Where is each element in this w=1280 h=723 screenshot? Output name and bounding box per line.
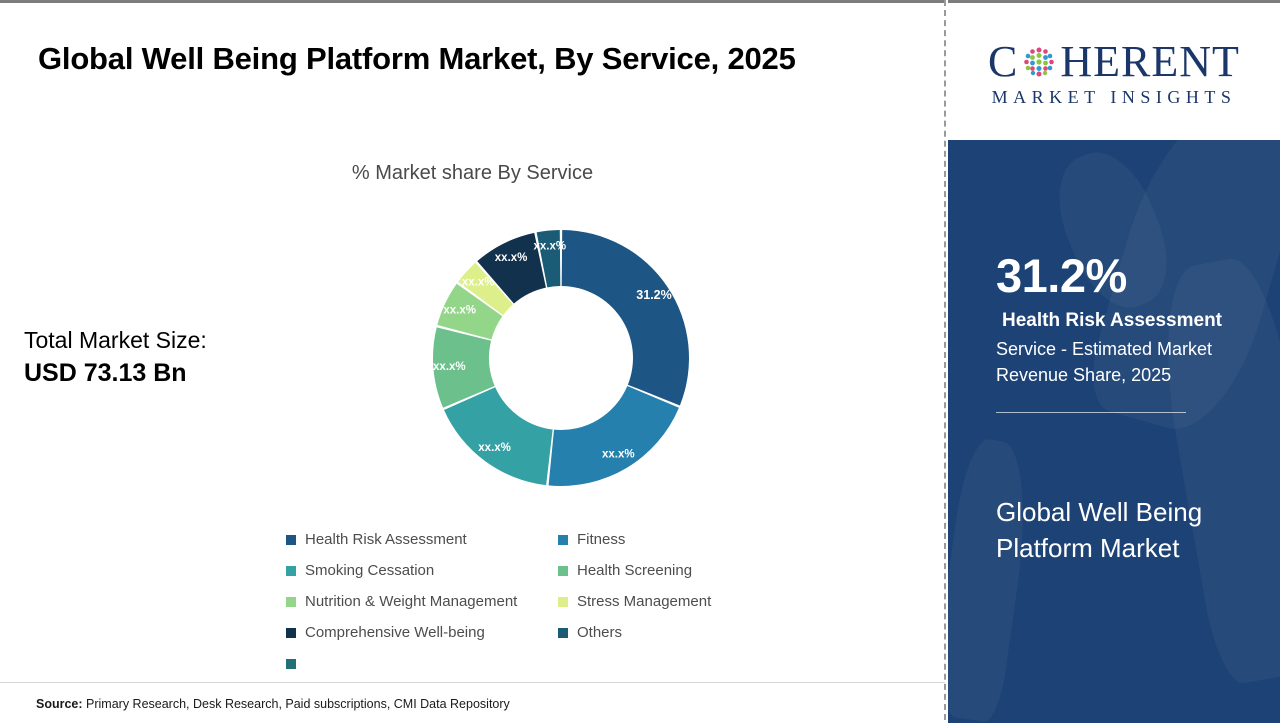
donut-slice-label: xx.x% [602, 448, 635, 460]
donut-slice-label: xx.x% [462, 277, 495, 289]
legend-item[interactable]: Stress Management [558, 590, 806, 613]
donut-slice-label: xx.x% [495, 252, 528, 264]
legend-label: Comprehensive Well-being [305, 624, 485, 641]
kpi-rule [996, 412, 1186, 413]
logo-letter-c: C [988, 40, 1018, 84]
donut-slice[interactable] [562, 230, 689, 405]
market-name: Global Well Being Platform Market [996, 495, 1236, 567]
legend-label: Fitness [577, 531, 625, 548]
legend-item[interactable]: Health Screening [558, 559, 806, 582]
legend-item[interactable]: Others [558, 621, 806, 644]
legend-label: Stress Management [577, 593, 711, 610]
legend-swatch [558, 566, 568, 576]
legend-label: Smoking Cessation [305, 562, 434, 579]
legend-swatch [558, 597, 568, 607]
source-text: Primary Research, Desk Research, Paid su… [83, 697, 510, 711]
main-chart-panel: Global Well Being Platform Market, By Se… [0, 0, 945, 720]
legend-item[interactable]: Smoking Cessation [286, 559, 558, 582]
logo-wordmark: C [988, 40, 1240, 84]
legend-item[interactable]: Health Risk Assessment [286, 528, 558, 551]
legend-label: Health Risk Assessment [305, 531, 467, 548]
donut-slice-label: xx.x% [433, 361, 466, 373]
donut-slice[interactable] [444, 387, 553, 485]
source-label: Source: [36, 697, 83, 711]
total-market-size-block: Total Market Size: USD 73.13 Bn [24, 325, 324, 391]
donut-slice[interactable] [549, 386, 679, 486]
legend-swatch [286, 566, 296, 576]
legend-label: Others [577, 624, 622, 641]
legend-swatch [286, 535, 296, 545]
legend-swatch [286, 597, 296, 607]
donut-slice-label: xx.x% [533, 241, 566, 253]
legend-swatch [286, 628, 296, 638]
total-market-size-value: USD 73.13 Bn [24, 357, 324, 391]
total-market-size-label: Total Market Size: [24, 325, 324, 356]
legend-item[interactable]: Comprehensive Well-being [286, 621, 558, 644]
panel-divider [944, 0, 946, 720]
kpi-subject: Health Risk Assessment [996, 309, 1254, 333]
kpi-panel: 31.2% Health Risk Assessment Service - E… [948, 140, 1280, 723]
logo-word-herent: HERENT [1060, 40, 1240, 84]
legend-item[interactable] [286, 652, 558, 675]
legend-swatch [558, 535, 568, 545]
kpi-value: 31.2% [996, 252, 1254, 299]
company-logo[interactable]: C [948, 6, 1280, 140]
legend-swatch [558, 628, 568, 638]
decorative-shape [948, 436, 1037, 723]
side-panel: C [948, 0, 1280, 720]
logo-tagline: MARKET INSIGHTS [992, 88, 1237, 106]
donut-slice-label: xx.x% [478, 442, 511, 454]
kpi-block: 31.2% Health Risk Assessment Service - E… [996, 252, 1254, 413]
chart-subtitle: % Market share By Service [0, 162, 945, 185]
donut-chart-svg: 31.2%xx.x%xx.x%xx.x%xx.x%xx.x%xx.x%xx.x% [428, 225, 694, 491]
page-title: Global Well Being Platform Market, By Se… [38, 35, 898, 83]
legend-label: Nutrition & Weight Management [305, 593, 517, 610]
kpi-description: Service - Estimated Market Revenue Share… [996, 336, 1254, 388]
globe-icon [1019, 42, 1059, 82]
donut-slice-label: xx.x% [443, 304, 476, 316]
source-note: Source: Primary Research, Desk Research,… [36, 697, 510, 711]
legend-label: Health Screening [577, 562, 692, 579]
donut-chart: 31.2%xx.x%xx.x%xx.x%xx.x%xx.x%xx.x%xx.x% [428, 225, 694, 491]
chart-legend: Health Risk AssessmentFitnessSmoking Ces… [286, 528, 806, 675]
legend-swatch [286, 659, 296, 669]
footer-divider [0, 682, 945, 683]
legend-item[interactable]: Nutrition & Weight Management [286, 590, 558, 613]
donut-slice-label: 31.2% [636, 288, 671, 302]
legend-item[interactable]: Fitness [558, 528, 806, 551]
